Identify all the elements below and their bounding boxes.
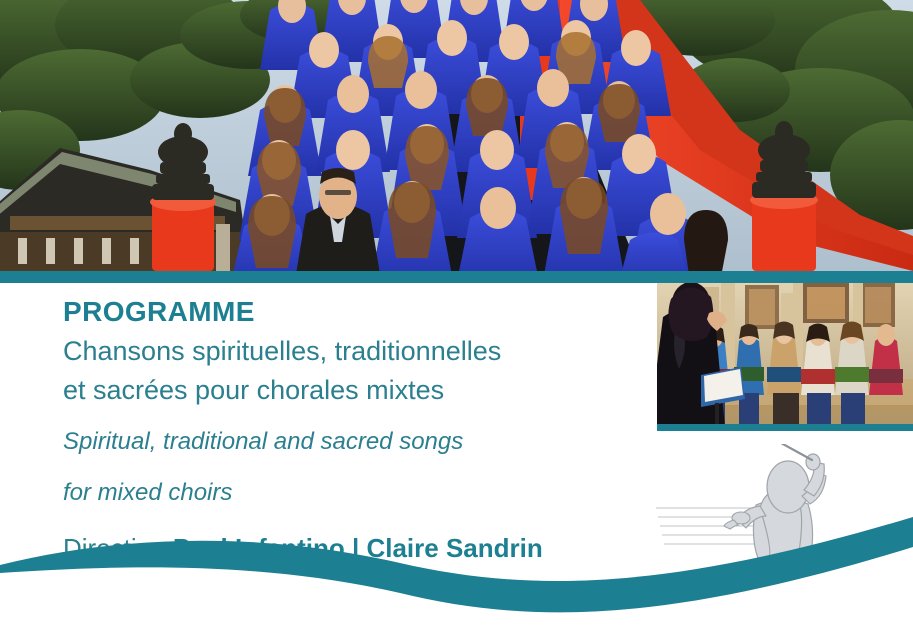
programme-french-line-2: et sacrées pour chorales mixtes: [63, 371, 643, 409]
teal-wave-ribbon: [0, 517, 913, 627]
programme-english-line-1: Spiritual, traditional and sacred songs: [63, 425, 643, 460]
choir-group-photo: [0, 0, 913, 271]
poster-root: PROGRAMME Chansons spirituelles, traditi…: [0, 0, 913, 627]
hero-divider-rule: [0, 271, 913, 283]
choir-concert-photo: [657, 283, 913, 428]
programme-english-line-2: for mixed choirs: [63, 476, 643, 511]
side-photo-divider-rule: [657, 424, 913, 431]
programme-french-line-1: Chansons spirituelles, traditionnelles: [63, 332, 643, 370]
page-title: PROGRAMME: [63, 296, 643, 328]
